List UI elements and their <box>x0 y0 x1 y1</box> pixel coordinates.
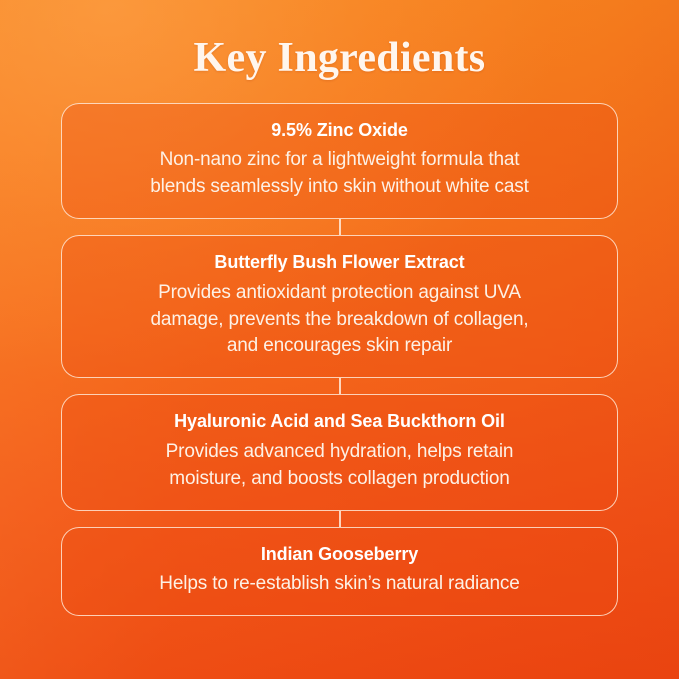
ingredient-description: Provides advanced hydration, helps retai… <box>86 439 593 493</box>
ingredient-name: Hyaluronic Acid and Sea Buckthorn Oil <box>86 409 593 433</box>
ingredient-description: Non-nano zinc for a lightweight formula … <box>86 147 593 201</box>
key-ingredients-poster: Key Ingredients 9.5% Zinc Oxide Non-nano… <box>0 0 679 679</box>
page-title: Key Ingredients <box>0 0 679 79</box>
ingredient-name: 9.5% Zinc Oxide <box>86 118 593 142</box>
card-connector-line <box>339 378 341 394</box>
ingredient-card: Indian Gooseberry Helps to re-establish … <box>61 527 618 616</box>
ingredient-card-list: 9.5% Zinc Oxide Non-nano zinc for a ligh… <box>61 79 618 616</box>
card-connector-line <box>339 219 341 235</box>
ingredient-name: Butterfly Bush Flower Extract <box>86 250 593 274</box>
ingredient-card-wrapper: 9.5% Zinc Oxide Non-nano zinc for a ligh… <box>61 103 618 219</box>
ingredient-card: Butterfly Bush Flower Extract Provides a… <box>61 235 618 378</box>
ingredient-card-wrapper: Hyaluronic Acid and Sea Buckthorn Oil Pr… <box>61 394 618 510</box>
ingredient-card: 9.5% Zinc Oxide Non-nano zinc for a ligh… <box>61 103 618 219</box>
ingredient-name: Indian Gooseberry <box>86 542 593 566</box>
ingredient-description: Helps to re-establish skin’s natural rad… <box>86 571 593 598</box>
card-connector-line <box>339 511 341 527</box>
ingredient-card: Hyaluronic Acid and Sea Buckthorn Oil Pr… <box>61 394 618 510</box>
ingredient-description: Provides antioxidant protection against … <box>86 280 593 361</box>
ingredient-card-wrapper: Butterfly Bush Flower Extract Provides a… <box>61 235 618 378</box>
ingredient-card-wrapper: Indian Gooseberry Helps to re-establish … <box>61 527 618 616</box>
